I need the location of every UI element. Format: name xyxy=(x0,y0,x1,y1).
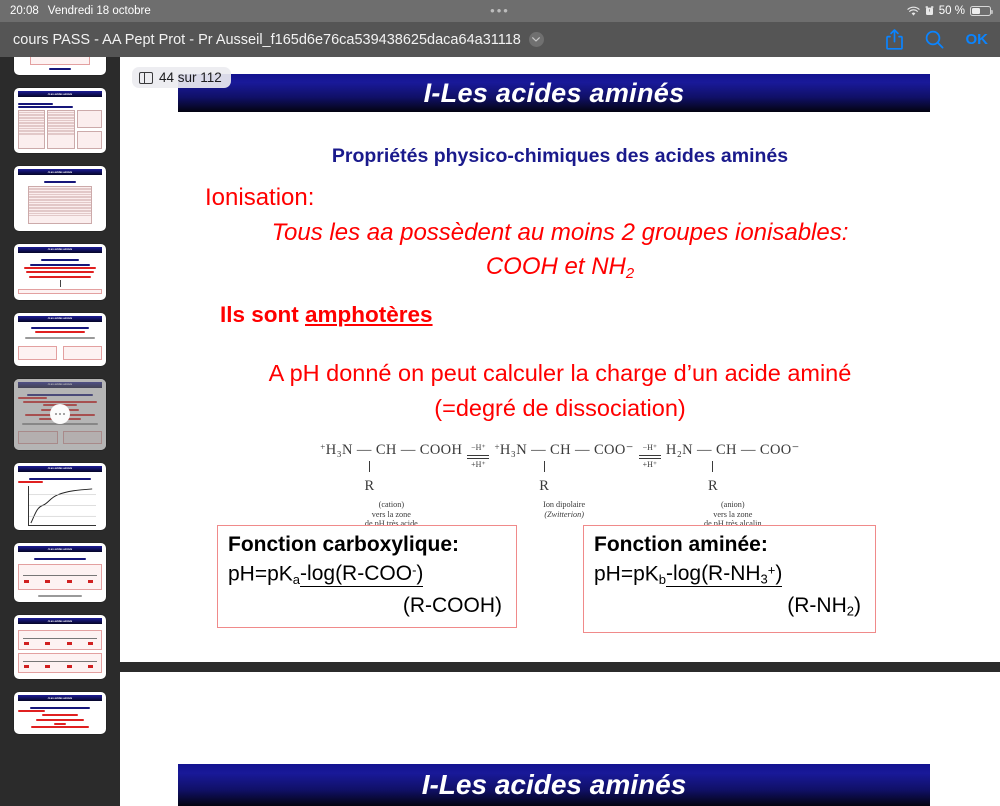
next-slide-title-band: I-Les acides aminés xyxy=(178,764,930,806)
thumbnail-title-band: I-Les acides aminés xyxy=(18,546,102,552)
thumbnail-item[interactable]: I-Les acides aminés xyxy=(14,244,106,300)
thumbnail-title-band: I-Les acides aminés xyxy=(18,316,102,322)
line-cooh-nh2: COOH et NH2 xyxy=(120,253,1000,282)
next-slide-title: I-Les acides aminés xyxy=(422,769,687,801)
ios-status-bar: 20:08 Vendredi 18 octobre ••• 50 % xyxy=(0,0,1000,22)
thumbnail-body xyxy=(14,255,106,300)
page-indicator-label: 44 sur 112 xyxy=(159,70,222,85)
thumbnail-item-current[interactable]: I-Les acides aminés xyxy=(14,379,106,450)
line-cooh-subscript: 2 xyxy=(626,266,634,282)
equation-bond-line xyxy=(626,459,800,477)
document-title-group[interactable]: cours PASS - AA Pept Prot - Pr Ausseil_f… xyxy=(0,32,544,48)
status-right: 50 % xyxy=(907,5,991,17)
thumbnail-body xyxy=(14,703,106,734)
alarm-clock-icon xyxy=(925,6,934,16)
thumbnail-item[interactable]: I-Les acides aminés xyxy=(14,166,106,231)
equation-term-cation-formula: +H₃N — CH — COOH xyxy=(320,442,462,459)
equation-bond-line xyxy=(454,459,633,477)
thumbnail-title-band: I-Les acides aminés xyxy=(18,169,102,175)
sidebar-toggle-icon[interactable] xyxy=(139,72,153,84)
thumbnail-item[interactable]: I-Les acides aminés xyxy=(14,543,106,602)
thumbnail-title-band: I-Les acides aminés xyxy=(18,247,102,253)
thumbnail-item[interactable]: I-Les acides aminés xyxy=(14,313,106,366)
equation-term-zwitterion-r: R xyxy=(454,478,633,495)
line-amphoteres: Ils sont amphotères xyxy=(220,302,433,328)
equation-arrow-2-top: −H⁺ xyxy=(639,444,661,453)
equation-term-zwitterion-formula: +H₃N — CH — COO⁻ xyxy=(494,442,633,459)
equation-arrow-1-top: −H⁺ xyxy=(467,444,489,453)
page-indicator-badge[interactable]: 44 sur 112 xyxy=(132,67,231,88)
formula-box-carboxylic: Fonction carboxylique: pH=pKa-log(R-COO-… xyxy=(217,525,517,628)
search-icon[interactable] xyxy=(925,30,944,49)
slide-page-44[interactable]: I-Les acides aminés Propriétés physico-c… xyxy=(120,57,1000,662)
loading-spinner xyxy=(50,404,70,424)
document-toolbar: cours PASS - AA Pept Prot - Pr Ausseil_f… xyxy=(0,22,1000,57)
line-tous-les-aa: Tous les aa possèdent au moins 2 groupes… xyxy=(120,219,1000,247)
thumbnail-item[interactable]: I-Les acides aminés xyxy=(14,463,106,530)
line-cooh-text: COOH et NH xyxy=(486,253,626,280)
thumbnail-body xyxy=(14,177,106,231)
formula-box-carboxylic-denominator: (R-COOH) xyxy=(228,593,508,619)
thumbnail-item[interactable]: I-Les acides aminés xyxy=(14,615,106,679)
thumbnail-item[interactable]: I-Les acides aminés xyxy=(14,57,106,75)
thumbnail-body xyxy=(14,99,106,153)
status-center-dots: ••• xyxy=(0,6,1000,16)
slide-viewer[interactable]: 44 sur 112 I-Les acides aminés Propriété… xyxy=(120,57,1000,749)
thumbnail-title-band: I-Les acides aminés xyxy=(18,382,102,388)
equation-term-cation: +H₃N — CH — COOH R (cation) vers la zone… xyxy=(320,442,462,529)
thumbnail-body xyxy=(14,626,106,679)
equation-term-anion: H₂N — CH — COO⁻ R (anion) vers la zone d… xyxy=(666,442,800,529)
equation-term-cation-r: R xyxy=(276,478,462,495)
thumbnail-title-band: I-Les acides aminés xyxy=(18,91,102,97)
slide-title: I-Les acides aminés xyxy=(424,78,685,109)
thumbnail-body xyxy=(14,474,106,530)
formula-box-amine-denominator: (R-NH2) xyxy=(594,593,867,624)
formula-box-amine: Fonction aminée: pH=pKb-log(R-NH3+) (R-N… xyxy=(583,525,876,633)
thumbnail-title-band: I-Les acides aminés xyxy=(18,695,102,701)
formula-box-amine-numerator: pH=pKb-log(R-NH3+) xyxy=(594,558,867,593)
slide-page-45[interactable]: I-Les acides aminés xyxy=(120,672,1000,806)
thumbnail-sidebar[interactable]: I-Les acides aminés I-Les acides aminés xyxy=(0,57,120,749)
line-amphoteres-underlined: amphotères xyxy=(305,302,433,327)
thumbnail-title-band: I-Les acides aminés xyxy=(18,618,102,624)
toolbar-actions: OK xyxy=(886,29,989,50)
line-ionisation: Ionisation: xyxy=(205,184,314,212)
equation-term-zwitterion-caption: Ion dipolaire (Zwitterion) xyxy=(494,500,633,519)
thumbnail-body xyxy=(14,324,106,366)
equation-term-anion-formula: H₂N — CH — COO⁻ xyxy=(666,442,800,459)
equation-term-zwitterion: +H₃N — CH — COO⁻ R Ion dipolaire (Zwitte… xyxy=(494,442,633,519)
chemical-equation-diagram: +H₃N — CH — COOH R (cation) vers la zone… xyxy=(120,442,1000,529)
equation-bond-line xyxy=(276,459,462,477)
chevron-down-icon[interactable] xyxy=(529,32,544,47)
thumbnail-body xyxy=(14,554,106,602)
line-degre-dissociation: (=degré de dissociation) xyxy=(120,395,1000,422)
battery-icon xyxy=(970,6,991,17)
wifi-icon xyxy=(907,6,920,17)
thumbnail-item[interactable]: I-Les acides aminés xyxy=(14,88,106,153)
formula-box-carboxylic-numerator: pH=pKa-log(R-COO-) xyxy=(228,558,508,593)
thumbnail-body xyxy=(14,57,106,75)
done-button[interactable]: OK xyxy=(966,31,989,48)
formula-box-carboxylic-heading: Fonction carboxylique: xyxy=(228,532,508,558)
line-ph-donne: A pH donné on peut calculer la charge d’… xyxy=(120,360,1000,387)
battery-percent-label: 50 % xyxy=(939,5,965,17)
slide-subtitle: Propriétés physico-chimiques des acides … xyxy=(120,145,1000,168)
equation-term-anion-r: R xyxy=(626,478,800,495)
thumbnail-item[interactable]: I-Les acides aminés xyxy=(14,692,106,734)
equilibrium-arrow-icon xyxy=(467,453,489,460)
formula-box-amine-heading: Fonction aminée: xyxy=(594,532,867,558)
document-title: cours PASS - AA Pept Prot - Pr Ausseil_f… xyxy=(13,32,521,48)
line-amphoteres-prefix: Ils sont xyxy=(220,302,305,327)
equilibrium-arrow-icon xyxy=(639,453,661,460)
slide-title-band: I-Les acides aminés xyxy=(178,74,930,112)
share-icon[interactable] xyxy=(886,29,903,50)
thumbnail-title-band: I-Les acides aminés xyxy=(18,466,102,472)
